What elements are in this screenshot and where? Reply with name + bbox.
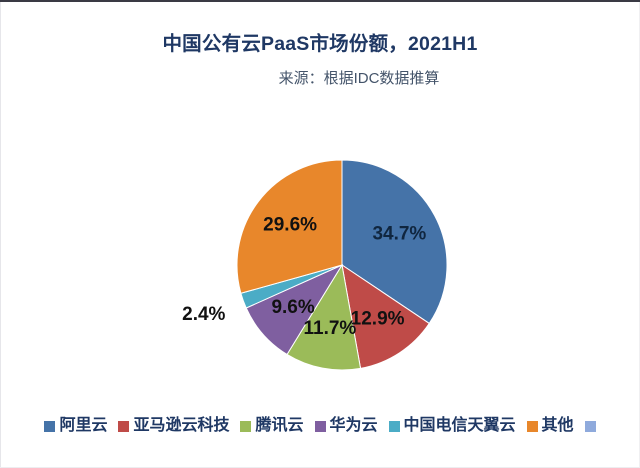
legend-item[interactable]: 其他 [527, 418, 574, 434]
pie-data-label: 34.7% [372, 223, 426, 244]
legend-item-label: 腾讯云 [255, 418, 303, 434]
legend-item[interactable]: 阿里云 [44, 418, 107, 434]
legend-item[interactable]: 亚马逊云科技 [118, 418, 229, 434]
pie-data-label: 11.7% [303, 318, 356, 339]
chart-title: 中国公有云PaaS市场份额，2021H1 [0, 27, 640, 56]
legend-item[interactable] [585, 421, 596, 432]
pie-chart-svg: 34.7%12.9%11.7%9.6%2.4%29.6% [0, 110, 640, 390]
legend-swatch-icon [585, 421, 596, 432]
chart-legend: 阿里云亚马逊云科技腾讯云华为云中国电信天翼云其他 [0, 418, 640, 434]
pie-data-label: 12.9% [351, 309, 405, 330]
legend-item-label: 华为云 [330, 418, 378, 434]
legend-swatch-icon [240, 421, 251, 432]
pie-data-label: 2.4% [182, 304, 225, 325]
legend-swatch-icon [389, 421, 400, 432]
chart-subtitle-source: 来源：根据IDC数据推算 [0, 67, 640, 88]
pie-chart-plot-area: 34.7%12.9%11.7%9.6%2.4%29.6% [0, 110, 640, 390]
legend-item-label: 阿里云 [59, 418, 107, 434]
legend-swatch-icon [44, 421, 55, 432]
pie-data-label: 29.6% [263, 215, 317, 236]
legend-swatch-icon [118, 421, 129, 432]
top-divider [0, 0, 640, 2]
legend-item-label: 中国电信天翼云 [404, 418, 516, 434]
legend-item[interactable]: 华为云 [315, 418, 378, 434]
legend-swatch-icon [315, 421, 326, 432]
chart-screenshot: 中国公有云PaaS市场份额，2021H1 来源：根据IDC数据推算 34.7%1… [0, 0, 640, 468]
legend-item[interactable]: 腾讯云 [240, 418, 303, 434]
pie-data-label: 9.6% [271, 297, 314, 318]
legend-item[interactable]: 中国电信天翼云 [389, 418, 516, 434]
legend-item-label: 其他 [542, 418, 574, 434]
legend-swatch-icon [527, 421, 538, 432]
legend-item-label: 亚马逊云科技 [133, 418, 229, 434]
